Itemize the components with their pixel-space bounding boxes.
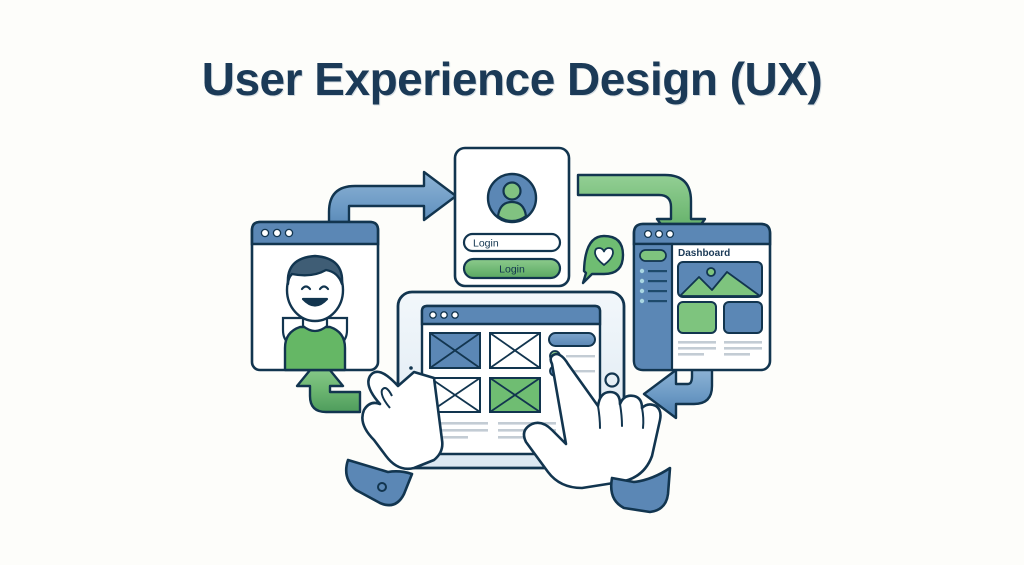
sidebar-item-line-4[interactable] (648, 300, 667, 302)
window-dot-1[interactable] (261, 229, 268, 236)
tablet-window-controls[interactable] (430, 312, 458, 318)
window-controls[interactable] (261, 229, 292, 236)
user-research-window[interactable] (252, 222, 378, 370)
sidebar-item-dot-4[interactable] (640, 299, 644, 303)
wireframe-box-1[interactable] (430, 333, 480, 368)
feedback-heart-bubble[interactable] (583, 236, 623, 283)
dashboard-sidebar[interactable] (634, 244, 672, 370)
dashboard-heading: Dashboard (678, 248, 730, 259)
tablet-dot-1[interactable] (430, 312, 436, 318)
window-dot-3[interactable] (285, 229, 292, 236)
side-panel-line-1 (566, 355, 595, 357)
sidebar-item-line-3[interactable] (648, 290, 667, 292)
tablet-dot-3[interactable] (452, 312, 458, 318)
sidebar-active-item[interactable] (640, 250, 666, 261)
dashboard-dot-1[interactable] (645, 231, 652, 238)
dashboard-window-controls[interactable] (645, 231, 674, 238)
wireframe-box-2[interactable] (490, 333, 540, 368)
ux-design-cycle-illustration: Login Login (0, 0, 1024, 565)
illustration-canvas: User Experience Design (UX) (0, 0, 1024, 565)
dashboard-card-2[interactable] (724, 302, 762, 333)
login-button-label: Login (499, 264, 525, 276)
dashboard-dot-2[interactable] (656, 231, 663, 238)
sidebar-item-dot-2[interactable] (640, 279, 644, 283)
tablet-dot-2[interactable] (441, 312, 447, 318)
dashboard-image-placeholder (678, 262, 762, 297)
sidebar-item-dot-1[interactable] (640, 269, 644, 273)
login-card[interactable]: Login Login (455, 148, 569, 286)
user-avatar-icon (488, 174, 536, 222)
sidebar-item-line-1[interactable] (648, 270, 667, 272)
dashboard-card-1[interactable] (678, 302, 716, 333)
login-input[interactable]: Login (464, 234, 560, 251)
sidebar-item-line-2[interactable] (648, 280, 667, 282)
wireframe-box-4[interactable] (490, 378, 540, 412)
sidebar-item-dot-3[interactable] (640, 289, 644, 293)
tablet-camera (409, 366, 413, 370)
tablet-wireframe[interactable] (346, 292, 670, 512)
dashboard-dot-3[interactable] (667, 231, 674, 238)
login-input-value: Login (473, 238, 499, 250)
window-dot-2[interactable] (273, 229, 280, 236)
dashboard-window[interactable]: Dashboard (634, 224, 770, 370)
login-button[interactable]: Login (464, 259, 560, 278)
side-panel-pill[interactable] (549, 333, 595, 346)
